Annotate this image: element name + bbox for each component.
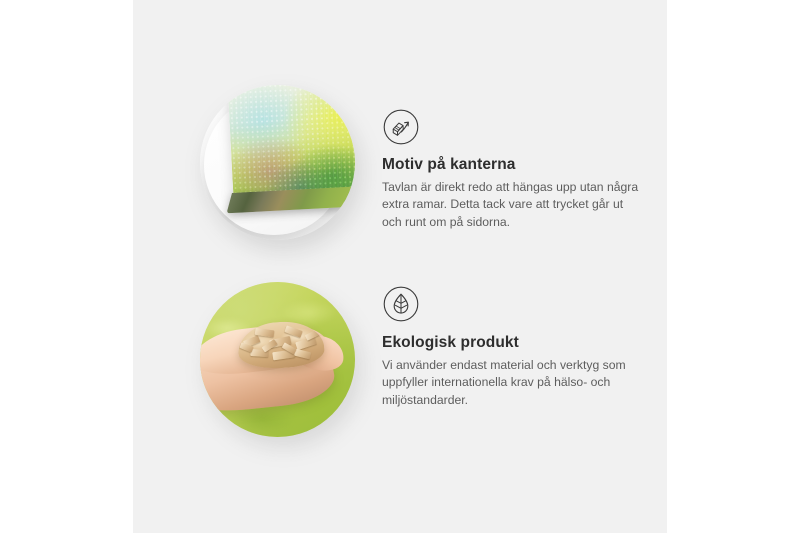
feature-title: Motiv på kanterna (382, 156, 515, 174)
leaf-icon (382, 285, 420, 323)
feature-title: Ekologisk produkt (382, 334, 519, 352)
canvas-corner-photo (200, 85, 355, 240)
canvas-photo-scene (200, 85, 355, 240)
product-info-graphic: Motiv på kanterna Tavlan är direkt redo … (0, 0, 800, 533)
content-panel: Motiv på kanterna Tavlan är direkt redo … (133, 0, 667, 533)
feature-block-canvas-edges: Motiv på kanterna Tavlan är direkt redo … (133, 55, 667, 275)
hands-with-wood-chips-photo (200, 282, 355, 437)
feature-description: Vi använder endast material och verktyg … (382, 357, 644, 409)
eco-photo-scene (200, 282, 355, 437)
feature-description: Tavlan är direkt redo att hängas upp uta… (382, 179, 644, 231)
feature-block-eco-product: Ekologisk produkt Vi använder endast mat… (133, 252, 667, 472)
canvas-wrapped-edges-icon (382, 108, 420, 146)
